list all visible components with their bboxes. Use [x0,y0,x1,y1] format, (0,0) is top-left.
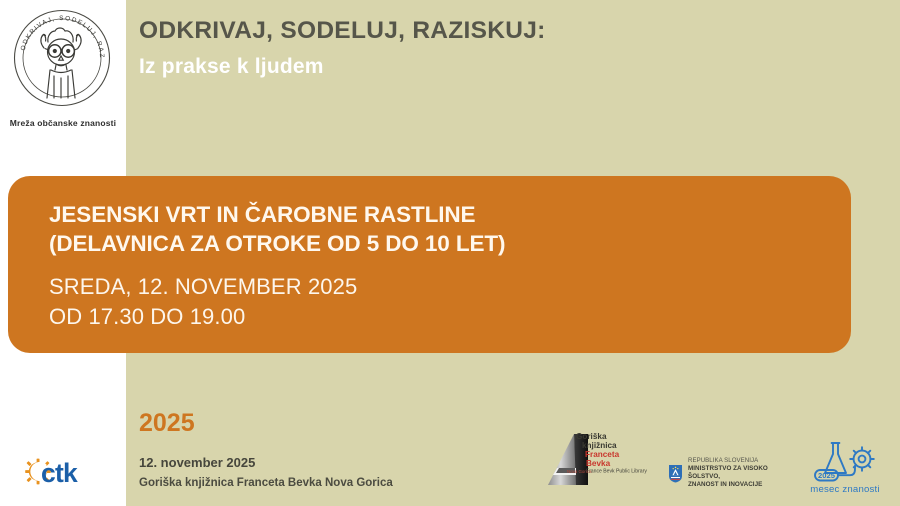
flask-and-gear-icon: 2025 mesec znanosti [806,441,884,495]
library-subtitle: France Bevk Public Library [586,469,647,475]
ministry-line-1: REPUBLIKA SLOVENIJA [688,457,794,465]
event-card: JESENSKI VRT IN ČAROBNE RASTLINE (DELAVN… [8,176,851,353]
ministry-line-2: MINISTRSTVO ZA VISOKO ŠOLSTVO, [688,465,794,481]
science-month-year: 2025 [818,471,836,480]
event-card-content: JESENSKI VRT IN ČAROBNE RASTLINE (DELAVN… [49,200,831,332]
slovenia-coat-of-arms-icon [668,464,683,483]
svg-text:ODKRIVAJ, SODELUJ, RAZISKUJ!: ODKRIVAJ, SODELUJ, RAZISKUJ! [10,6,105,59]
footer-venue: Goriška knjižnica Franceta Bevka Nova Go… [139,477,393,489]
page-subtitle: Iz prakse k ljudem [139,55,739,79]
ministry-logo: REPUBLIKA SLOVENIJA MINISTRSTVO ZA VISOK… [668,456,794,490]
library-line-1: Goriška [576,432,607,441]
footer-year: 2025 [139,409,195,438]
ministry-text-block: REPUBLIKA SLOVENIJA MINISTRSTVO ZA VISOK… [688,457,794,488]
event-date: SREDA, 12. NOVEMBER 2025 [49,272,831,302]
footer-date: 12. november 2025 [139,455,255,470]
gear-c-icon: ctk [22,452,114,488]
header-block: ODKRIVAJ, SODELUJ, RAZISKUJ: Iz prakse k… [139,17,739,79]
event-heading-line-2: (DELAVNICA ZA OTROKE OD 5 DO 10 LET) [49,229,831,258]
library-line-4: Bevka [586,459,611,468]
goriska-knjiznica-logo: Goriška knjižnica Franceta Bevka France … [545,428,663,490]
ministry-line-3: ZNANOST IN INOVACIJE [688,481,794,489]
event-heading-line-1: JESENSKI VRT IN ČAROBNE RASTLINE [49,200,831,229]
event-datetime: SREDA, 12. NOVEMBER 2025 OD 17.30 DO 19.… [49,272,831,333]
science-month-wordmark: mesec znanosti [810,484,879,495]
library-location: Nova Gorica [567,469,592,474]
ctk-logo: ctk [22,452,114,488]
letter-a-monument-icon: Goriška knjižnica Franceta Bevka France … [545,428,663,490]
ctk-wordmark: ctk [41,458,78,488]
network-logo-caption: Mreža občanske znanosti [0,118,126,128]
page-title: ODKRIVAJ, SODELUJ, RAZISKUJ: [139,17,739,44]
face-with-glasses-badge-icon: ODKRIVAJ, SODELUJ, RAZISKUJ! [10,6,114,110]
event-time: OD 17.30 DO 19.00 [49,302,831,332]
mesec-znanosti-logo: 2025 mesec znanosti [806,441,884,495]
poster-canvas: ODKRIVAJ, SODELUJ, RAZISKUJ! [0,0,900,506]
network-badge-logo: ODKRIVAJ, SODELUJ, RAZISKUJ! [10,6,114,110]
library-line-3: Franceta [585,450,620,459]
library-line-2: knjižnica [582,441,617,450]
